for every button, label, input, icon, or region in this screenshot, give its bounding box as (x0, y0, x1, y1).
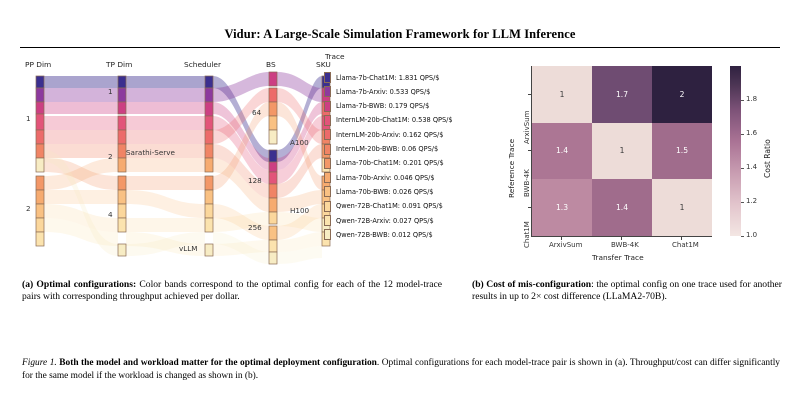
trace-legend-label: Llama-70b-Chat1M: 0.201 QPS/$ (336, 159, 444, 167)
subcaption-b: (b) Cost of mis-configuration: the optim… (472, 279, 782, 304)
trace-legend-item[interactable]: Llama-7b-BWB: 0.179 QPS/$ (324, 100, 429, 113)
trace-color-swatch (324, 158, 331, 169)
trace-legend-label: InternLM-20b-Chat1M: 0.538 QPS/$ (336, 116, 453, 124)
node-tp-dim[interactable] (118, 76, 126, 256)
sankey-label-tp-4: 4 (108, 210, 113, 219)
trace-legend-label: InternLM-20b-BWB: 0.06 QPS/$ (336, 145, 438, 153)
colorbar-tick-label: 1.6 (746, 129, 757, 137)
colorbar-tick-mark (741, 202, 744, 203)
heatmap-cell[interactable]: 1 (592, 123, 652, 180)
trace-color-swatch (324, 215, 331, 226)
trace-legend-item[interactable]: Llama-7b-Chat1M: 1.831 QPS/$ (324, 71, 440, 84)
trace-legend-label: Llama-70b-BWB: 0.026 QPS/$ (336, 188, 434, 196)
sankey-label-pp-1: 1 (26, 114, 31, 123)
sankey-label-bs-128: 128 (248, 176, 262, 185)
heatmap-xlabel: Transfer Trace (592, 253, 644, 262)
colorbar-tick-label: 1.0 (746, 231, 757, 239)
sankey-diagram: PP Dim TP Dim Scheduler BS SKU Trace 1 2… (22, 58, 462, 273)
heatmap-xtick-arxivsum: ArxivSum (549, 241, 582, 249)
heatmap-grid[interactable]: 11.721.411.51.31.41 (532, 66, 712, 236)
heatmap-xtick-mark-1 (621, 237, 622, 240)
heatmap-axis-left (531, 66, 532, 236)
heatmap-ytick-mark-1 (528, 150, 531, 151)
heatmap-xtick-chat1m: Chat1M (672, 241, 699, 249)
colorbar-tick-mark (741, 100, 744, 101)
heatmap-panel: 11.721.411.51.31.41 ArxivSum BWB-4K Chat… (487, 58, 787, 273)
trace-color-swatch (324, 101, 331, 112)
header-rule (20, 47, 780, 48)
sankey-label-vllm: vLLM (179, 244, 197, 253)
sankey-col-title-pp: PP Dim (25, 60, 51, 69)
heatmap-ylabel: Reference Trace (507, 139, 516, 198)
figure-body: PP Dim TP Dim Scheduler BS SKU Trace 1 2… (0, 58, 800, 273)
heatmap-cell[interactable]: 1.3 (532, 179, 592, 236)
trace-legend-item[interactable]: InternLM-20b-Chat1M: 0.538 QPS/$ (324, 114, 453, 127)
heatmap-ytick-mark-2 (528, 207, 531, 208)
trace-legend-label: Qwen-72B-Chat1M: 0.091 QPS/$ (336, 202, 443, 210)
sankey-flows (44, 72, 322, 264)
sankey-label-bs-64: 64 (252, 108, 261, 117)
sankey-col-title-tp: TP Dim (106, 60, 132, 69)
trace-legend-item[interactable]: InternLM-20b-BWB: 0.06 QPS/$ (324, 143, 438, 156)
page-title: Vidur: A Large-Scale Simulation Framewor… (20, 27, 780, 42)
colorbar-title: Cost Ratio (763, 139, 772, 178)
subcaption-a: (a) Optimal configurations: Color bands … (22, 279, 442, 304)
node-bs[interactable] (269, 72, 277, 264)
figure-caption-label: Figure 1. (22, 358, 57, 368)
figure-caption: Figure 1. Both the model and workload ma… (22, 357, 780, 382)
sankey-col-title-scheduler: Scheduler (184, 60, 221, 69)
sankey-col-title-bs: BS (266, 60, 276, 69)
trace-legend-item[interactable]: Qwen-72B-BWB: 0.012 QPS/$ (324, 228, 433, 241)
trace-color-swatch (324, 201, 331, 212)
colorbar (730, 66, 741, 236)
heatmap-ytick-bwb4k: BWB-4K (523, 169, 531, 197)
sankey-label-bs-256: 256 (248, 223, 262, 232)
trace-legend-label: Llama-7b-Arxiv: 0.533 QPS/$ (336, 88, 430, 96)
colorbar-tick-label: 1.4 (746, 163, 757, 171)
subcaption-a-bold: (a) Optimal configurations: (22, 279, 136, 290)
trace-color-swatch (324, 186, 331, 197)
trace-legend-label: Qwen-72B-BWB: 0.012 QPS/$ (336, 231, 433, 239)
trace-legend: Llama-7b-Chat1M: 1.831 QPS/$Llama-7b-Arx… (324, 58, 484, 273)
trace-color-swatch (324, 115, 331, 126)
heatmap-cell[interactable]: 1.7 (592, 66, 652, 123)
heatmap-xtick-mark-0 (561, 237, 562, 240)
heatmap-cell[interactable]: 1 (532, 66, 592, 123)
trace-legend-label: Llama-7b-Chat1M: 1.831 QPS/$ (336, 74, 440, 82)
sankey-label-sku-h100: H100 (290, 206, 309, 215)
trace-color-swatch (324, 229, 331, 240)
trace-legend-item[interactable]: Llama-70b-Chat1M: 0.201 QPS/$ (324, 157, 444, 170)
trace-legend-item[interactable]: Qwen-72B-Chat1M: 0.091 QPS/$ (324, 200, 443, 213)
heatmap-cell[interactable]: 1.4 (592, 179, 652, 236)
sankey-label-tp-1: 1 (108, 87, 113, 96)
heatmap-cell[interactable]: 1.4 (532, 123, 592, 180)
heatmap-ytick-mark-0 (528, 94, 531, 95)
colorbar-tick-mark (741, 168, 744, 169)
colorbar-tick-mark (741, 236, 744, 237)
heatmap-ytick-arxivsum: ArxivSum (523, 111, 531, 144)
heatmap-cell[interactable]: 1 (652, 179, 712, 236)
node-pp-dim[interactable] (36, 76, 44, 246)
trace-legend-item[interactable]: Llama-70b-BWB: 0.026 QPS/$ (324, 185, 434, 198)
sankey-label-sku-a100: A100 (290, 138, 309, 147)
subcaption-b-bold: (b) Cost of mis-configuration (472, 279, 591, 290)
heatmap-cell[interactable]: 1.5 (652, 123, 712, 180)
colorbar-tick-label: 1.2 (746, 197, 757, 205)
trace-color-swatch (324, 86, 331, 97)
trace-legend-label: Llama-70b-Arxiv: 0.046 QPS/$ (336, 174, 435, 182)
sankey-label-sarathi: Sarathi-Serve (126, 148, 175, 157)
heatmap-cell[interactable]: 2 (652, 66, 712, 123)
heatmap-ytick-chat1m: Chat1M (523, 221, 531, 248)
trace-legend-item[interactable]: InternLM-20b-Arxiv: 0.162 QPS/$ (324, 128, 443, 141)
trace-legend-item[interactable]: Llama-7b-Arxiv: 0.533 QPS/$ (324, 85, 430, 98)
trace-legend-item[interactable]: Qwen-72B-Arxiv: 0.027 QPS/$ (324, 214, 434, 227)
node-scheduler[interactable] (205, 76, 213, 256)
trace-color-swatch (324, 129, 331, 140)
sankey-label-tp-2: 2 (108, 152, 113, 161)
colorbar-tick-mark (741, 134, 744, 135)
trace-legend-item[interactable]: Llama-70b-Arxiv: 0.046 QPS/$ (324, 171, 435, 184)
heatmap-xtick-mark-2 (681, 237, 682, 240)
trace-color-swatch (324, 144, 331, 155)
trace-color-swatch (324, 172, 331, 183)
sankey-label-pp-2: 2 (26, 204, 31, 213)
trace-legend-label: InternLM-20b-Arxiv: 0.162 QPS/$ (336, 131, 443, 139)
trace-legend-label: Llama-7b-BWB: 0.179 QPS/$ (336, 102, 429, 110)
heatmap-xtick-bwb4k: BWB-4K (611, 241, 639, 249)
figure-page: Vidur: A Large-Scale Simulation Framewor… (0, 0, 800, 412)
trace-color-swatch (324, 72, 331, 83)
colorbar-tick-label: 1.8 (746, 95, 757, 103)
figure-caption-bold: Both the model and workload matter for t… (57, 358, 377, 368)
trace-legend-label: Qwen-72B-Arxiv: 0.027 QPS/$ (336, 217, 434, 225)
